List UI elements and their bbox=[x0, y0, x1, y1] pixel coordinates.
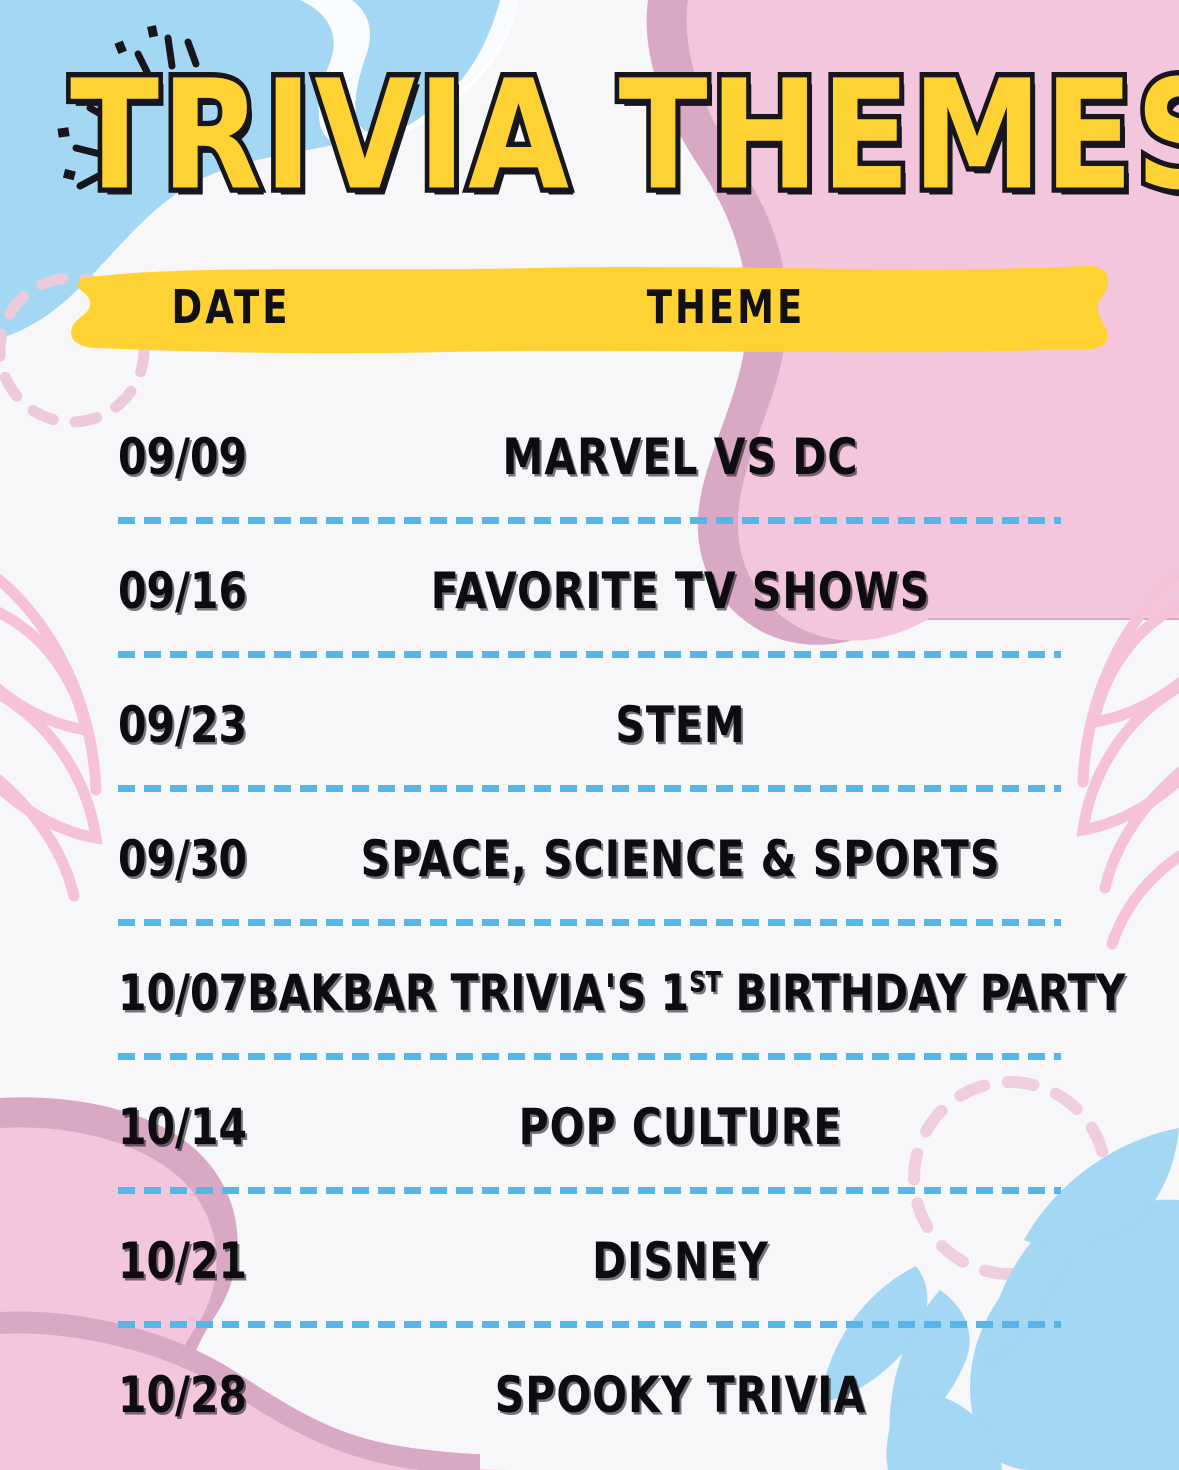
cell-theme: DISNEY bbox=[300, 1232, 1179, 1291]
table-row: 09/16 FAVORITE TV SHOWS bbox=[0, 524, 1179, 658]
cell-theme: FAVORITE TV SHOWS bbox=[300, 562, 1179, 621]
cell-theme: SPOOKY TRIVIA bbox=[300, 1366, 1179, 1425]
themes-table: 09/09 MARVEL VS DC 09/16 FAVORITE TV SHO… bbox=[0, 390, 1179, 1462]
ordinal-suffix: ST bbox=[689, 968, 721, 1000]
cell-date: 09/16 bbox=[0, 562, 300, 621]
cell-date: 10/14 bbox=[0, 1098, 300, 1157]
row-divider bbox=[118, 919, 1061, 926]
cell-theme: POP CULTURE bbox=[300, 1098, 1179, 1157]
cell-date: 10/28 bbox=[0, 1366, 300, 1425]
cell-date: 09/30 bbox=[0, 830, 300, 889]
cell-theme: SPACE, SCIENCE & SPORTS bbox=[300, 830, 1179, 889]
row-divider bbox=[118, 1321, 1061, 1328]
row-divider bbox=[118, 1187, 1061, 1194]
cell-theme-text-tail: BIRTHDAY PARTY bbox=[721, 964, 1125, 1023]
table-row: 10/21 DISNEY bbox=[0, 1194, 1179, 1328]
cell-theme: MARVEL VS DC bbox=[300, 428, 1179, 487]
column-header-date: DATE bbox=[66, 280, 396, 334]
table-header-row: DATE THEME bbox=[66, 258, 1116, 356]
cell-date: 09/09 bbox=[0, 428, 300, 487]
page-title: TRIVIA THEMES bbox=[70, 60, 1161, 213]
cell-theme: STEM bbox=[300, 696, 1179, 755]
table-row: 10/28 SPOOKY TRIVIA bbox=[0, 1328, 1179, 1462]
table-row: 10/07 BAKBAR TRIVIA'S 1ST BIRTHDAY PARTY bbox=[0, 926, 1179, 1060]
row-divider bbox=[118, 651, 1061, 658]
row-divider bbox=[118, 1053, 1061, 1060]
column-header-theme: THEME bbox=[396, 280, 1116, 334]
table-row: 09/30 SPACE, SCIENCE & SPORTS bbox=[0, 792, 1179, 926]
cell-date: 10/21 bbox=[0, 1232, 300, 1291]
table-row: 09/09 MARVEL VS DC bbox=[0, 390, 1179, 524]
trivia-themes-poster: TRIVIA THEMES DATE THEME 09/09 MARVEL VS… bbox=[0, 0, 1179, 1470]
cell-date: 09/23 bbox=[0, 696, 300, 755]
table-row: 09/23 STEM bbox=[0, 658, 1179, 792]
row-divider bbox=[118, 517, 1061, 524]
table-row: 10/14 POP CULTURE bbox=[0, 1060, 1179, 1194]
cell-date: 10/07 bbox=[0, 964, 247, 1023]
row-divider bbox=[118, 785, 1061, 792]
title-area: TRIVIA THEMES bbox=[0, 60, 1179, 240]
cell-theme: BAKBAR TRIVIA'S 1ST BIRTHDAY PARTY bbox=[247, 964, 1179, 1023]
cell-theme-text: BAKBAR TRIVIA'S 1 bbox=[247, 964, 689, 1023]
